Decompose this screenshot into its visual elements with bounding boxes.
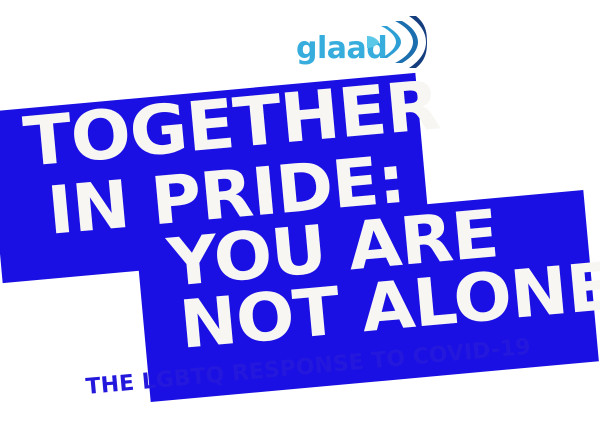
signal-waves-icon [365, 14, 427, 70]
poster-canvas: glaad TOGETHER IN PRIDE: YOU ARE NOT ALO… [0, 0, 600, 443]
glaad-logo: glaad [296, 14, 426, 72]
